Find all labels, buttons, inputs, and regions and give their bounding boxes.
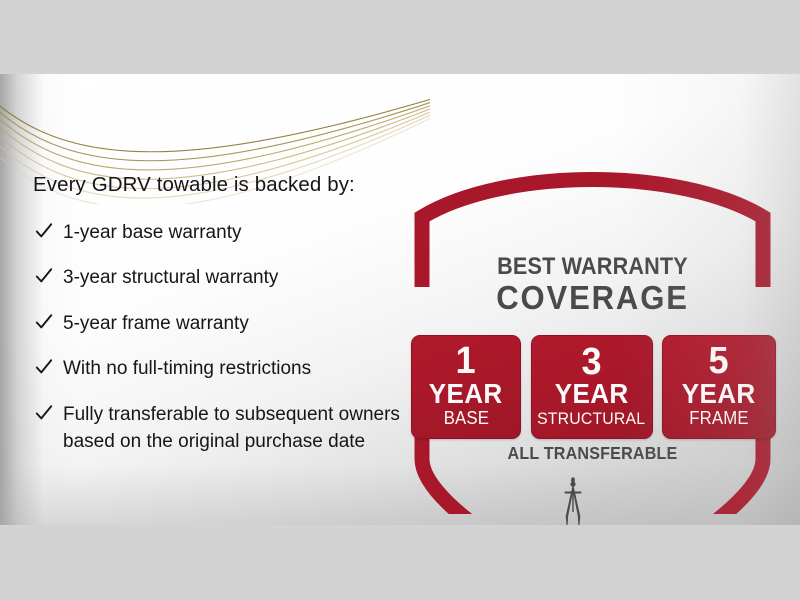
list-item-label: Fully transferable to subsequent owners … [63, 404, 400, 452]
check-icon [35, 267, 53, 285]
warranty-badge: BEST WARRANTY COVERAGE 1 YEAR BASE 3 YEA… [395, 159, 790, 514]
warranty-box-base[interactable]: 1 YEAR BASE [411, 335, 521, 439]
list-item-label: With no full-timing restrictions [63, 358, 311, 379]
list-item-label: 1-year base warranty [63, 222, 241, 243]
warranty-box-group: 1 YEAR BASE 3 YEAR STRUCTURAL 5 YEAR FRA… [411, 335, 776, 439]
compass-divider-icon [558, 477, 588, 525]
warranty-box-label: FRAME [689, 409, 749, 428]
check-icon [35, 404, 53, 422]
warranty-box-unit: YEAR [682, 380, 756, 407]
slide-letterbox: Every GDRV towable is backed by: 1-year … [0, 0, 800, 600]
check-icon [35, 222, 53, 240]
warranty-box-unit: YEAR [555, 380, 629, 407]
copy-block: Every GDRV towable is backed by: 1-year … [33, 174, 433, 455]
warranty-box-frame[interactable]: 5 YEAR FRAME [662, 335, 776, 439]
warranty-box-label: STRUCTURAL [537, 410, 645, 428]
list-item-label: 3-year structural warranty [63, 267, 278, 288]
check-icon [35, 313, 53, 331]
warranty-box-number: 5 [709, 343, 729, 379]
warranty-box-unit: YEAR [429, 380, 503, 407]
list-item: 5-year frame warranty [33, 311, 433, 338]
list-item: Fully transferable to subsequent owners … [33, 402, 433, 455]
warranty-box-structural[interactable]: 3 YEAR STRUCTURAL [531, 335, 653, 439]
list-item-label: 5-year frame warranty [63, 313, 249, 334]
list-item: 1-year base warranty [33, 220, 433, 247]
badge-footer-label: ALL TRANSFERABLE [411, 445, 774, 463]
warranty-box-label: BASE [443, 409, 488, 428]
benefits-list: 1-year base warranty 3-year structural w… [33, 220, 433, 456]
badge-title-line2: COVERAGE [407, 281, 778, 314]
check-icon [35, 358, 53, 376]
warranty-box-number: 3 [581, 344, 601, 380]
list-item: 3-year structural warranty [33, 265, 433, 292]
warranty-box-number: 1 [456, 343, 476, 379]
page-title: Every GDRV towable is backed by: [33, 174, 433, 197]
slide-canvas: Every GDRV towable is backed by: 1-year … [0, 74, 800, 525]
badge-title-line1: BEST WARRANTY [415, 255, 771, 279]
list-item: With no full-timing restrictions [33, 356, 433, 383]
